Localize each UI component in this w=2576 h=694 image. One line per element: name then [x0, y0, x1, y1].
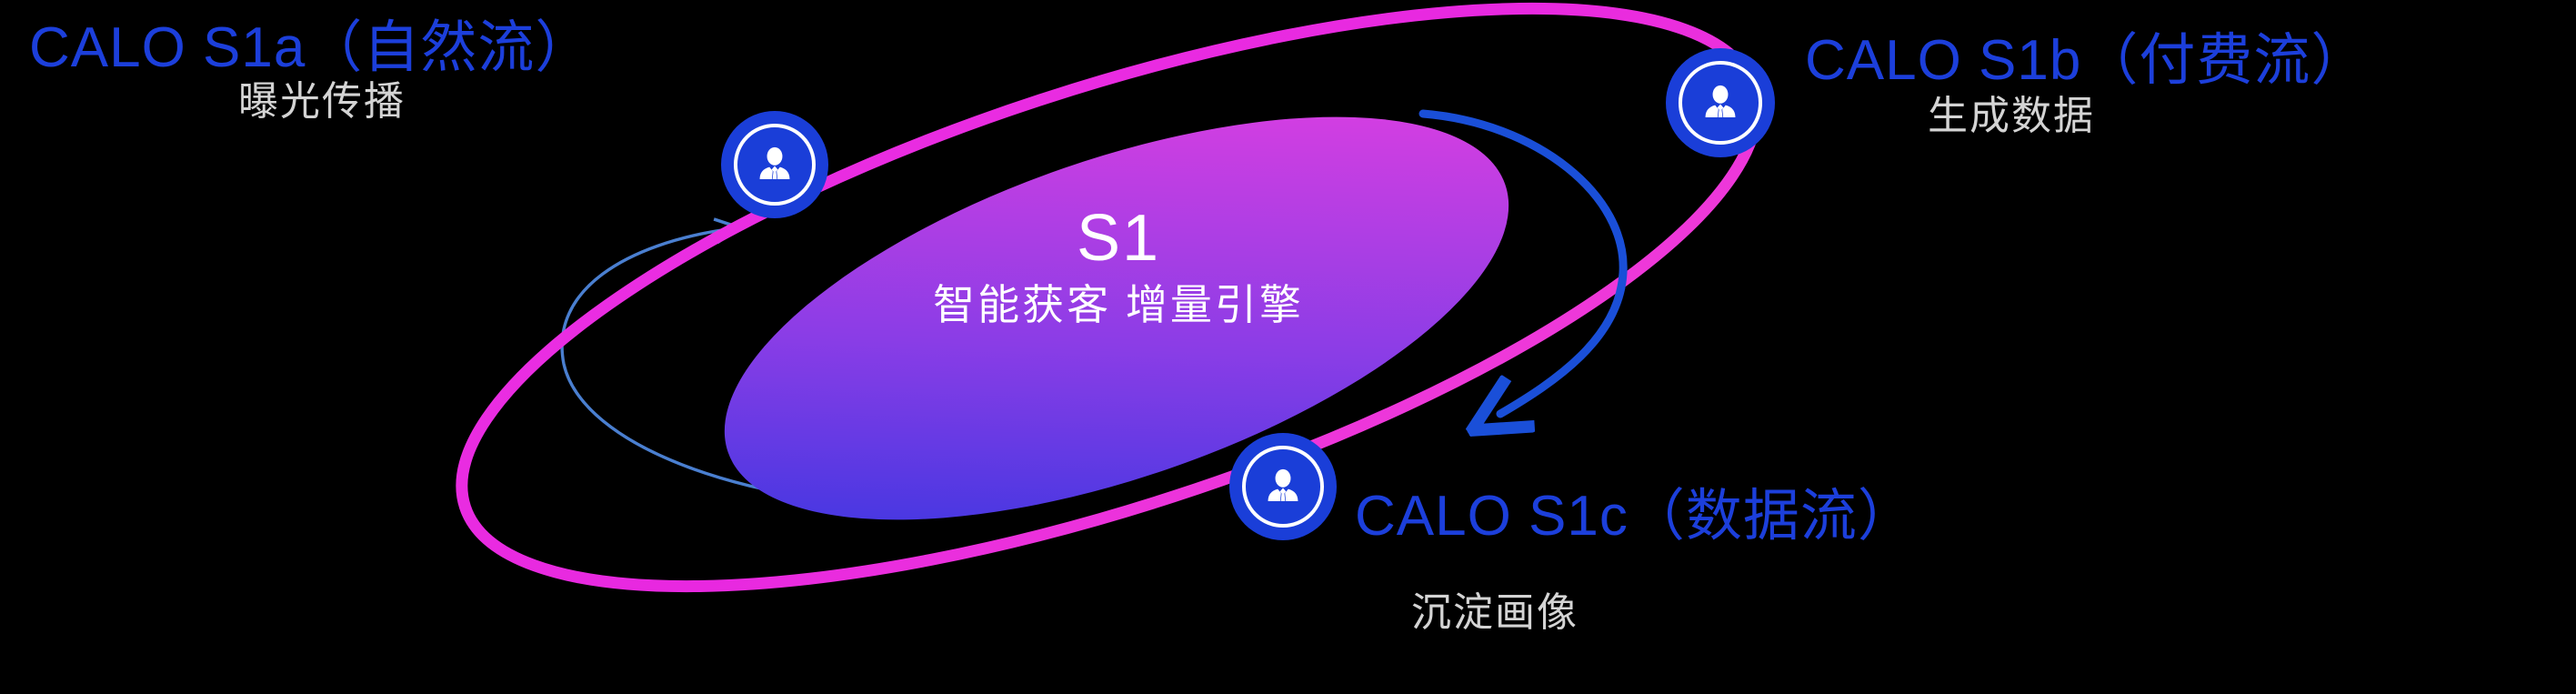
node-subtitle-s1c: 沉淀画像 — [1411, 593, 1579, 633]
node-icon-s1c[interactable] — [1229, 433, 1337, 540]
node-title-s1a: CALO S1a（自然流） — [29, 20, 592, 76]
node-subtitle-s1a: 曝光传播 — [238, 82, 406, 122]
node-title-s1c: CALO S1c（数据流） — [1355, 488, 1915, 545]
node-icon-s1a[interactable] — [721, 111, 828, 218]
node-subtitle-s1b: 生成数据 — [1928, 96, 2095, 136]
person-badge-icon — [748, 138, 801, 191]
node-title-s1b: CALO S1b（付费流） — [1805, 33, 2368, 89]
person-badge-icon — [1257, 460, 1309, 513]
person-badge-icon — [1694, 76, 1747, 129]
diagram-canvas: S1 智能获客 增量引擎 CALO S1a（自然流） 曝光传播 CALO S1b… — [0, 0, 2576, 694]
node-icon-s1b[interactable] — [1666, 48, 1775, 157]
